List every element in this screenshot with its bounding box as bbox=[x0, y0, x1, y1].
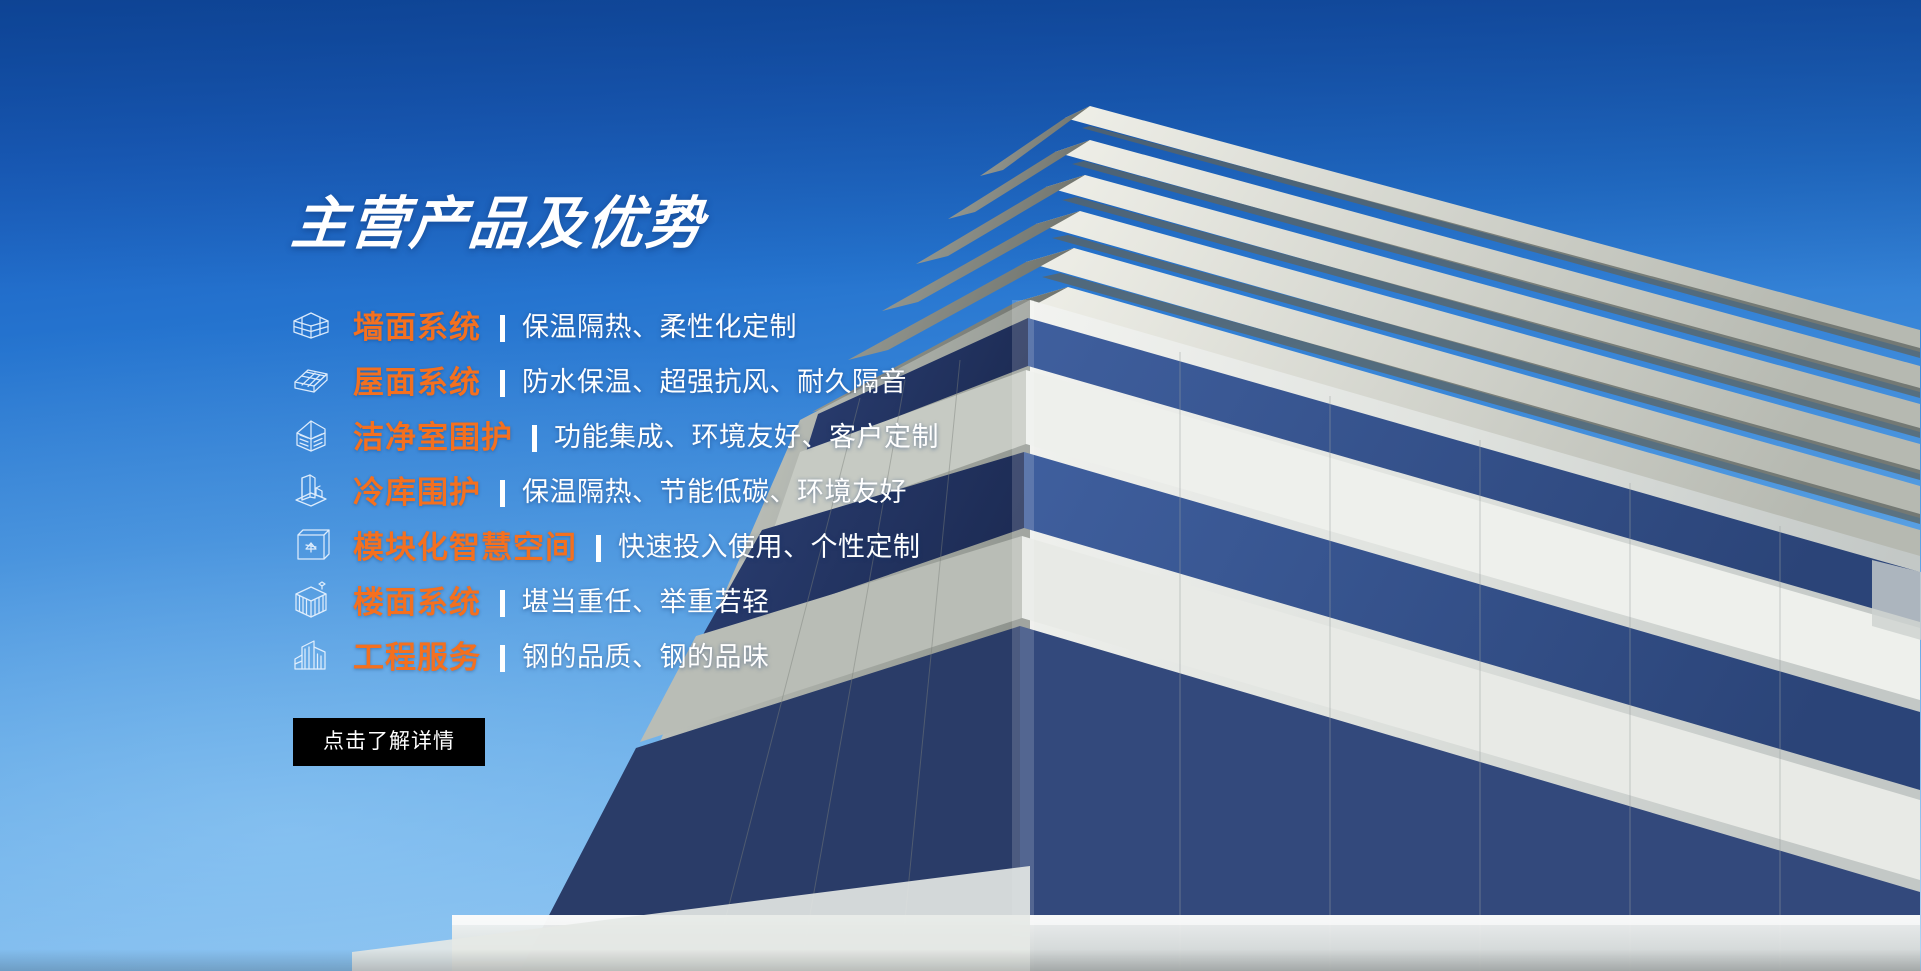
feature-item-modular-smart-space[interactable]: 模块化智慧空间 快速投入使用、个性定制 bbox=[289, 517, 1209, 572]
cta-container: 点击了解详情 bbox=[293, 718, 1209, 766]
feature-item-roof-system[interactable]: 屋面系统 防水保温、超强抗风、耐久隔音 bbox=[289, 352, 1209, 407]
feature-name: 屋面系统 bbox=[353, 357, 481, 402]
feature-separator bbox=[500, 590, 505, 617]
hero-banner: 主营产品及优势 墙面系统 保温隔热、柔性化定制 bbox=[0, 0, 1921, 971]
cleanroom-enclosure-icon bbox=[289, 414, 333, 456]
banner-content: 主营产品及优势 墙面系统 保温隔热、柔性化定制 bbox=[289, 196, 1209, 766]
feature-description: 保温隔热、柔性化定制 bbox=[522, 305, 797, 344]
page-title: 主营产品及优势 bbox=[289, 196, 1214, 253]
feature-name: 楼面系统 bbox=[353, 577, 481, 622]
feature-name: 洁净室围护 bbox=[353, 412, 513, 457]
feature-separator bbox=[500, 370, 505, 397]
learn-more-button[interactable]: 点击了解详情 bbox=[293, 718, 485, 766]
feature-item-cold-storage-enclosure[interactable]: 冷库围护 保温隔热、节能低碳、环境友好 bbox=[289, 462, 1209, 517]
feature-list: 墙面系统 保温隔热、柔性化定制 屋面系统 bbox=[289, 297, 1209, 682]
feature-name: 模块化智慧空间 bbox=[353, 522, 577, 567]
floor-system-icon bbox=[289, 579, 333, 621]
engineering-service-icon bbox=[289, 634, 333, 676]
feature-name: 工程服务 bbox=[353, 632, 481, 677]
wall-system-icon bbox=[289, 304, 333, 346]
feature-description: 功能集成、环境友好、客户定制 bbox=[554, 415, 939, 454]
feature-item-floor-system[interactable]: 楼面系统 堪当重任、举重若轻 bbox=[289, 572, 1209, 627]
feature-separator bbox=[500, 645, 505, 672]
feature-item-wall-system[interactable]: 墙面系统 保温隔热、柔性化定制 bbox=[289, 297, 1209, 352]
feature-separator bbox=[596, 535, 601, 562]
feature-description: 防水保温、超强抗风、耐久隔音 bbox=[522, 360, 907, 399]
feature-item-engineering-service[interactable]: 工程服务 钢的品质、钢的品味 bbox=[289, 627, 1209, 682]
roof-system-icon bbox=[289, 359, 333, 401]
feature-item-cleanroom-enclosure[interactable]: 洁净室围护 功能集成、环境友好、客户定制 bbox=[289, 407, 1209, 462]
modular-smart-space-icon bbox=[289, 524, 333, 566]
cold-storage-enclosure-icon bbox=[289, 469, 333, 511]
feature-separator bbox=[500, 315, 505, 342]
feature-description: 快速投入使用、个性定制 bbox=[618, 525, 921, 564]
feature-separator bbox=[532, 425, 537, 452]
feature-description: 堪当重任、举重若轻 bbox=[522, 580, 770, 619]
feature-description: 保温隔热、节能低碳、环境友好 bbox=[522, 470, 907, 509]
feature-name: 冷库围护 bbox=[353, 467, 481, 512]
feature-name: 墙面系统 bbox=[353, 302, 481, 347]
feature-description: 钢的品质、钢的品味 bbox=[522, 635, 770, 674]
feature-separator bbox=[500, 480, 505, 507]
